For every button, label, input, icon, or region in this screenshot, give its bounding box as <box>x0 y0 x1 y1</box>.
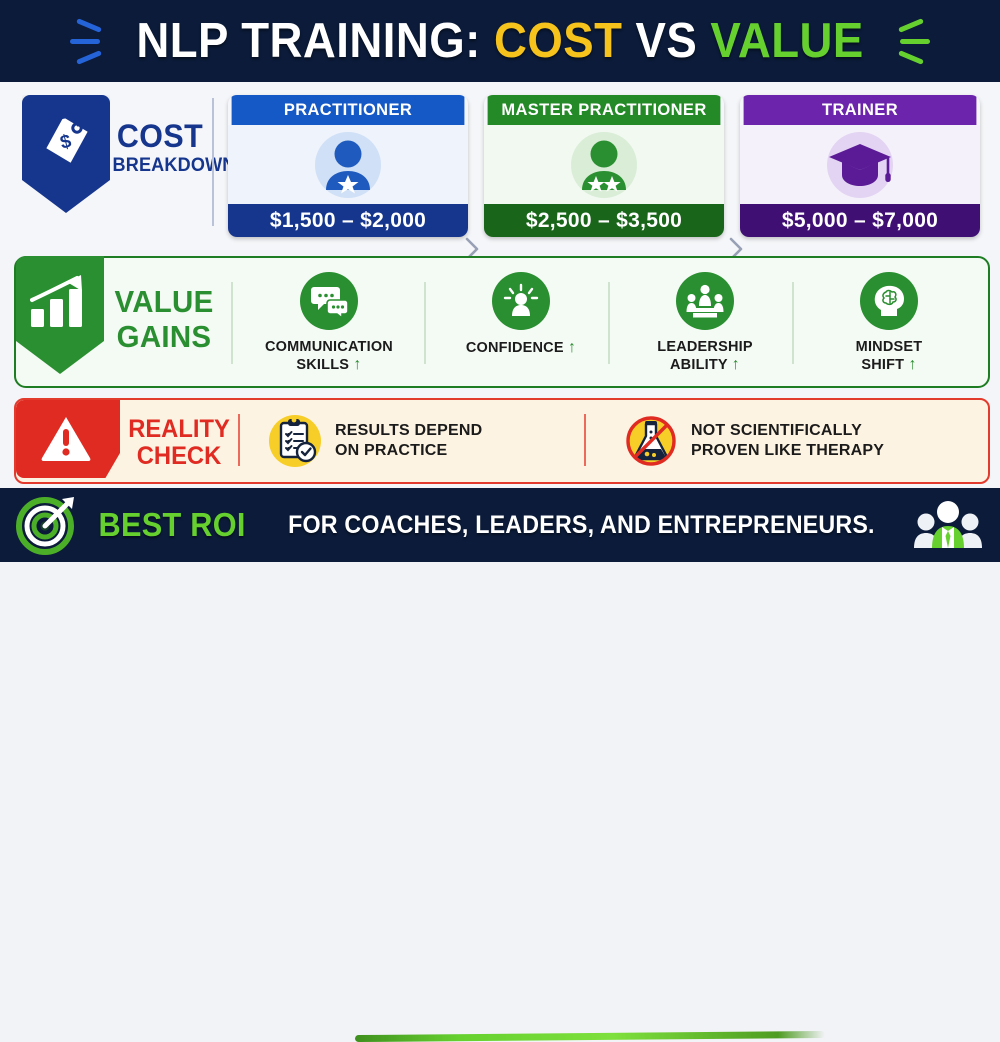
reality-separator-1 <box>238 414 240 466</box>
cost-divider <box>212 98 214 226</box>
value-gains-panel: VALUE GAINS COMMUNICATION SKILLS ↑ <box>14 256 990 388</box>
tier-card-trainer[interactable]: TRAINER $5,000 – $7,000 <box>740 95 980 237</box>
person-two-stars-icon <box>565 128 643 202</box>
tier-icon-wrap-practitioner <box>228 125 468 204</box>
reality-text-practice-line2: ON PRACTICE <box>335 442 447 459</box>
footer-brush-underline <box>355 1031 825 1042</box>
value-arrow-leadership: ↑ <box>732 356 740 373</box>
reality-check-badge <box>16 400 120 478</box>
three-people-icon <box>912 498 984 552</box>
value-label-leadership-line1: LEADERSHIP <box>657 339 752 355</box>
value-label-mindset-line2: SHIFT <box>861 357 904 373</box>
title-part-vs: VS <box>622 14 710 68</box>
shining-person-icon <box>503 283 539 319</box>
speech-bubbles-icon <box>310 284 348 318</box>
reality-check-panel: REALITY CHECK RESULTS DEPEND ON PRA <box>14 398 990 484</box>
value-label-communication-line1: COMMUNICATION <box>265 339 393 355</box>
value-arrow-confidence: ↑ <box>568 339 576 356</box>
value-title-line2: GAINS <box>113 321 216 352</box>
brain-head-icon <box>871 283 907 319</box>
value-item-leadership[interactable]: LEADERSHIP ABILITY ↑ <box>616 272 794 375</box>
value-label-confidence-line1: CONFIDENCE <box>466 340 564 356</box>
tier-price-trainer: $5,000 – $7,000 <box>740 204 980 237</box>
tier-card-practitioner[interactable]: PRACTITIONER $1,500 – $2,000 <box>228 95 468 237</box>
cost-breakdown-section: $ COST BREAKDOWN PRACTITIONER $1,500 – $… <box>0 82 1000 250</box>
reality-item-science[interactable]: NOT SCIENTIFICALLY PROVEN LIKE THERAPY <box>624 414 884 468</box>
value-title-line1: VALUE <box>113 286 216 317</box>
footer-roi-label: BEST ROI <box>99 506 246 544</box>
reality-text-science-line1: NOT SCIENTIFICALLY <box>691 422 862 439</box>
reality-text-practice: RESULTS DEPEND ON PRACTICE <box>335 421 482 461</box>
value-label-mindset-line1: MINDSET <box>856 339 923 355</box>
footer-roi-subtitle: FOR COACHES, LEADERS, AND ENTREPRENEURS. <box>288 511 875 540</box>
reality-text-science-line2: PROVEN LIKE THERAPY <box>691 442 884 459</box>
value-separator-1 <box>231 282 233 364</box>
reality-text-science: NOT SCIENTIFICALLY PROVEN LIKE THERAPY <box>691 421 884 461</box>
reality-check-title: REALITY CHECK <box>124 416 234 470</box>
tier-name-master-practitioner: MASTER PRACTITIONER <box>488 95 721 125</box>
reality-separator-2 <box>584 414 586 466</box>
leadership-podium-icon <box>685 284 725 318</box>
value-item-mindset[interactable]: MINDSET SHIFT ↑ <box>800 272 978 375</box>
cost-label-line1: COST <box>113 120 208 152</box>
shining-person-icon-wrap <box>492 272 550 330</box>
value-label-leadership: LEADERSHIP ABILITY ↑ <box>616 339 794 375</box>
value-separator-4 <box>792 282 794 364</box>
tier-icon-wrap-trainer <box>740 125 980 204</box>
value-gains-title: VALUE GAINS <box>110 286 218 352</box>
spark-lines-blue-icon <box>66 20 112 64</box>
value-label-mindset: MINDSET SHIFT ↑ <box>800 339 978 375</box>
graduation-cap-icon <box>821 128 899 202</box>
infographic-page: NLP TRAINING: COST VS VALUE $ COST BREAK… <box>0 0 1000 562</box>
reality-title-line1: REALITY <box>127 416 232 443</box>
value-label-communication: COMMUNICATION SKILLS ↑ <box>240 339 418 375</box>
tier-name-practitioner: PRACTITIONER <box>232 95 465 125</box>
value-gains-badge <box>16 256 104 374</box>
no-flask-icon <box>624 414 678 468</box>
value-item-communication[interactable]: COMMUNICATION SKILLS ↑ <box>240 272 418 375</box>
warning-triangle-icon <box>40 414 92 462</box>
page-title: NLP TRAINING: COST VS VALUE <box>136 13 863 69</box>
title-part-value: VALUE <box>710 14 863 68</box>
price-tag-icon: $ <box>39 113 93 169</box>
value-label-confidence: CONFIDENCE ↑ <box>432 339 610 358</box>
title-part-main: NLP TRAINING: <box>136 14 494 68</box>
speech-bubbles-icon-wrap <box>300 272 358 330</box>
person-one-star-icon <box>309 128 387 202</box>
value-arrow-mindset: ↑ <box>908 356 916 373</box>
cost-label-line2: BREAKDOWN <box>113 156 208 175</box>
header-banner: NLP TRAINING: COST VS VALUE <box>0 0 1000 82</box>
price-tag-badge: $ <box>22 95 110 213</box>
brain-head-icon-wrap <box>860 272 918 330</box>
target-arrow-icon <box>16 495 78 555</box>
leadership-podium-icon-wrap <box>676 272 734 330</box>
tier-name-trainer: TRAINER <box>744 95 977 125</box>
cost-breakdown-label: COST BREAKDOWN <box>110 120 210 175</box>
reality-title-line2: CHECK <box>127 443 232 470</box>
value-label-leadership-line2: ABILITY <box>670 357 728 373</box>
tier-price-master-practitioner: $2,500 – $3,500 <box>484 204 724 237</box>
spark-lines-green-icon <box>888 20 934 64</box>
value-separator-2 <box>424 282 426 364</box>
clipboard-check-icon <box>268 414 322 468</box>
value-label-communication-line2: SKILLS <box>296 357 349 373</box>
tier-card-master-practitioner[interactable]: MASTER PRACTITIONER $2,500 – $3,500 <box>484 95 724 237</box>
title-part-cost: COST <box>494 14 622 68</box>
tier-price-practitioner: $1,500 – $2,000 <box>228 204 468 237</box>
bar-chart-growth-icon <box>29 273 89 331</box>
value-arrow-communication: ↑ <box>353 356 361 373</box>
value-item-confidence[interactable]: CONFIDENCE ↑ <box>432 272 610 358</box>
value-separator-3 <box>608 282 610 364</box>
footer-banner: BEST ROI FOR COACHES, LEADERS, AND ENTRE… <box>0 488 1000 562</box>
tier-icon-wrap-master <box>484 125 724 204</box>
reality-item-practice[interactable]: RESULTS DEPEND ON PRACTICE <box>268 414 482 468</box>
reality-text-practice-line1: RESULTS DEPEND <box>335 422 482 439</box>
